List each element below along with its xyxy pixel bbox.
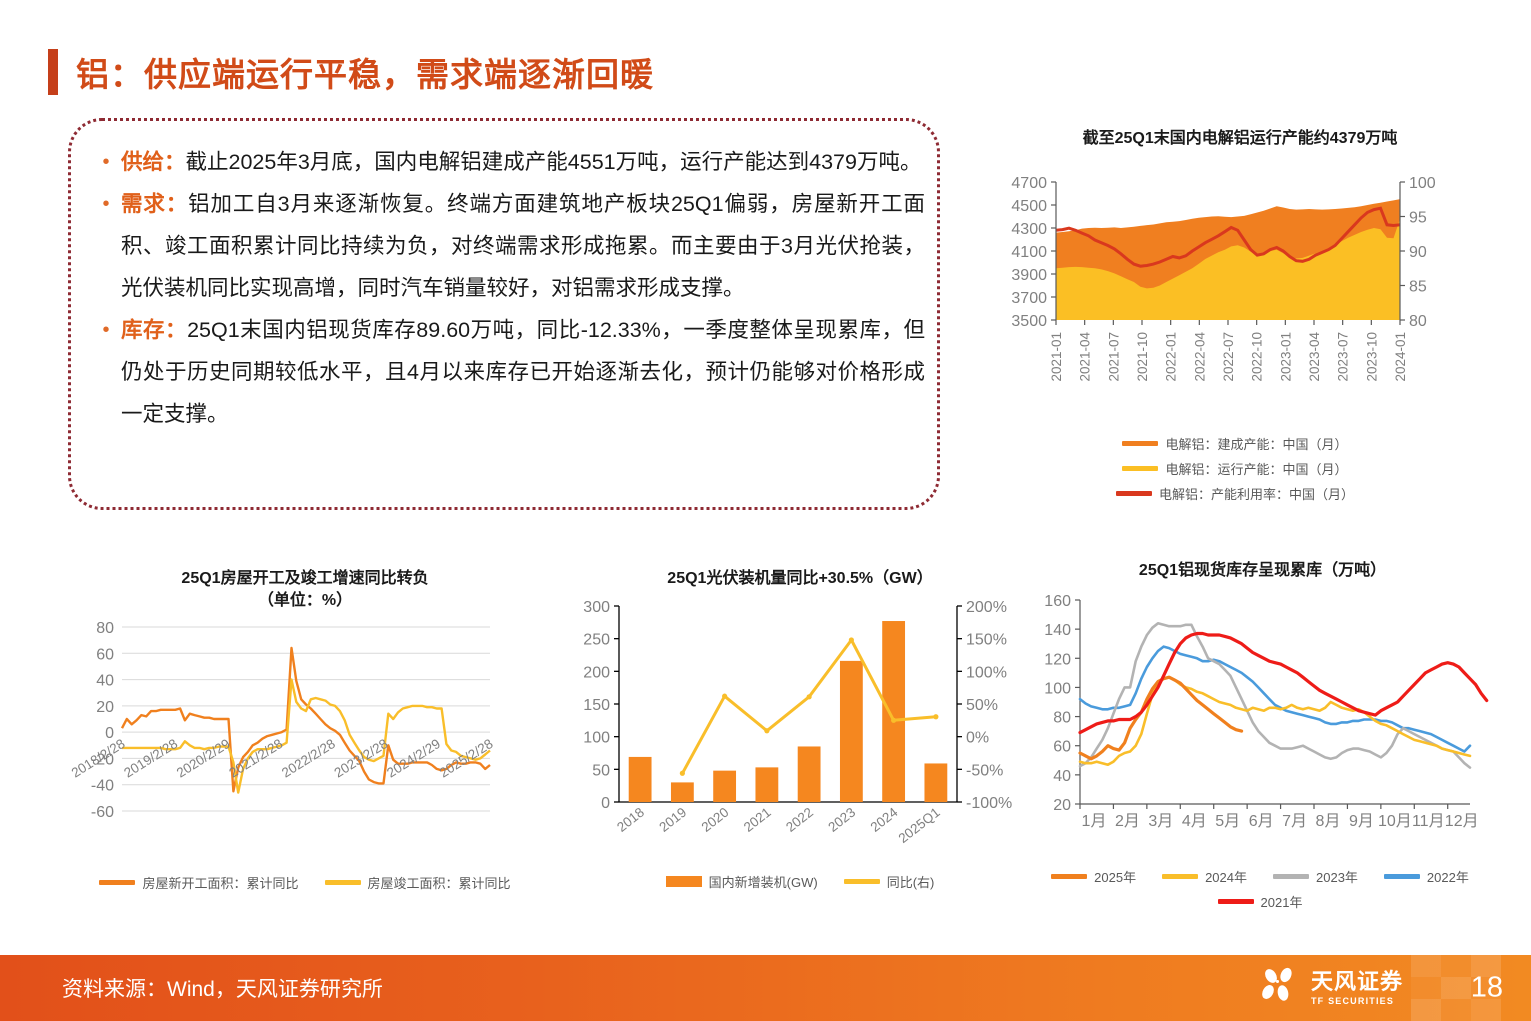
svg-text:11月: 11月 [1412, 813, 1445, 830]
chart-aluminum-spot-inventory: 25Q1铝现货库存呈现累库（万吨） 204060801001201401601月… [1030, 560, 1495, 900]
legend-label: 2022年 [1427, 867, 1469, 886]
svg-text:20: 20 [1053, 797, 1071, 814]
svg-text:12月: 12月 [1445, 813, 1479, 830]
svg-text:60: 60 [1053, 738, 1071, 755]
svg-text:200%: 200% [966, 599, 1007, 616]
chart-housing-starts-completions: 25Q1房屋开工及竣工增速同比转负 （单位：%） 806040200-20-40… [70, 568, 540, 898]
bullet-lead: 供给： [121, 150, 186, 174]
bullet-lead: 库存： [121, 318, 187, 342]
svg-text:2024-01: 2024-01 [1393, 332, 1408, 382]
svg-text:3700: 3700 [1011, 290, 1047, 307]
chart-inventory-plot: 204060801001201401601月2月3月4月5月6月7月8月9月10… [1030, 582, 1495, 862]
svg-text:-100%: -100% [966, 795, 1012, 812]
bullet-text: 需求：铝加工自3月来逐渐恢复。终端方面建筑地产板块25Q1偏弱，房屋新开工面积、… [121, 183, 925, 309]
svg-text:80: 80 [1053, 709, 1071, 726]
bar [671, 782, 694, 802]
svg-text:2022: 2022 [783, 804, 816, 834]
svg-text:2024: 2024 [868, 804, 901, 835]
svg-text:2022-04: 2022-04 [1192, 331, 1207, 381]
chart-housing-legend: 房屋新开工面积：累计同比房屋竣工面积：累计同比 [70, 873, 540, 892]
svg-text:5月: 5月 [1215, 813, 1240, 830]
bullet-dot-icon: • [91, 141, 121, 183]
svg-text:9月: 9月 [1349, 813, 1374, 830]
bullet-lead: 需求： [121, 192, 188, 216]
legend-item: 同比(右) [844, 872, 935, 891]
svg-text:2021-01: 2021-01 [1049, 332, 1064, 382]
svg-text:2018/2/28: 2018/2/28 [70, 736, 128, 781]
legend-label: 房屋新开工面积：累计同比 [142, 873, 298, 892]
legend-label: 2025年 [1094, 867, 1136, 886]
svg-text:10月: 10月 [1378, 813, 1412, 830]
svg-text:3900: 3900 [1011, 267, 1047, 284]
bar [924, 763, 947, 802]
svg-text:2月: 2月 [1115, 813, 1140, 830]
svg-text:0: 0 [601, 795, 610, 812]
chart-solar-legend: 国内新增装机(GW)同比(右) [565, 872, 1035, 891]
legend-label: 同比(右) [887, 872, 935, 891]
svg-text:2018: 2018 [614, 804, 647, 834]
svg-text:2023-04: 2023-04 [1307, 331, 1322, 381]
svg-text:100%: 100% [966, 664, 1007, 681]
legend-swatch [844, 879, 880, 884]
svg-text:2021-04: 2021-04 [1078, 331, 1093, 381]
bar [713, 770, 736, 801]
bullet-item: •库存：25Q1末国内铝现货库存89.60万吨，同比-12.33%，一季度整体呈… [91, 309, 925, 435]
chart-capacity-plot: 3500370039004100430045004700808590951002… [1000, 160, 1480, 425]
svg-text:4月: 4月 [1182, 813, 1207, 830]
legend-swatch [1116, 491, 1152, 496]
brand-name-en: TF SECURITIES [1311, 997, 1403, 1006]
page-title: 铝：供应端运行平稳，需求端逐渐回暖 [76, 48, 654, 96]
chart-solar-title: 25Q1光伏装机量同比+30.5%（GW） [565, 568, 1035, 590]
bullet-item: •需求：铝加工自3月来逐渐恢复。终端方面建筑地产板块25Q1偏弱，房屋新开工面积… [91, 183, 925, 309]
footer-source-text: 资料来源：Wind，天风证券研究所 [62, 973, 383, 1003]
svg-text:100: 100 [1044, 680, 1071, 697]
legend-label: 2021年 [1261, 892, 1303, 911]
svg-text:150: 150 [583, 697, 610, 714]
svg-text:4100: 4100 [1011, 244, 1047, 261]
svg-text:160: 160 [1044, 593, 1071, 610]
svg-text:2021-10: 2021-10 [1135, 332, 1150, 382]
tf-securities-flower-icon [1259, 967, 1303, 1009]
bullet-item: •供给：截止2025年3月底，国内电解铝建成产能4551万吨，运行产能达到437… [91, 141, 925, 183]
svg-text:2021: 2021 [741, 804, 774, 834]
svg-text:60: 60 [96, 646, 114, 663]
legend-label: 电解铝：产能利用率：中国（月） [1159, 484, 1354, 503]
svg-text:3500: 3500 [1011, 313, 1047, 330]
svg-text:-50%: -50% [966, 762, 1003, 779]
legend-label: 2024年 [1205, 867, 1247, 886]
svg-text:2020: 2020 [699, 804, 732, 834]
chart-capacity-title: 截至25Q1末国内电解铝运行产能约4379万吨 [1000, 128, 1480, 150]
svg-text:100: 100 [1409, 175, 1436, 192]
chart-inventory-title: 25Q1铝现货库存呈现累库（万吨） [1030, 560, 1495, 582]
svg-text:80: 80 [96, 620, 114, 637]
legend-swatch [325, 880, 361, 885]
svg-text:4300: 4300 [1011, 221, 1047, 238]
svg-text:100: 100 [583, 729, 610, 746]
page-title-group: 铝：供应端运行平稳，需求端逐渐回暖 [48, 48, 654, 96]
summary-callout-box: •供给：截止2025年3月底，国内电解铝建成产能4551万吨，运行产能达到437… [68, 118, 940, 510]
svg-text:-40: -40 [91, 778, 114, 795]
legend-item: 2025年 [1051, 867, 1136, 886]
svg-text:90: 90 [1409, 244, 1427, 261]
svg-text:2023-07: 2023-07 [1336, 332, 1351, 382]
svg-text:2022-07: 2022-07 [1221, 332, 1236, 382]
legend-swatch [1162, 874, 1198, 879]
legend-label: 电解铝：运行产能：中国（月） [1165, 459, 1347, 478]
svg-text:3月: 3月 [1148, 813, 1173, 830]
svg-text:1月: 1月 [1082, 813, 1107, 830]
company-logo: 天风证券 TF SECURITIES [1259, 967, 1403, 1009]
chart-electrolytic-aluminum-capacity: 截至25Q1末国内电解铝运行产能约4379万吨 3500370039004100… [1000, 128, 1480, 488]
svg-text:4500: 4500 [1011, 198, 1047, 215]
bar [629, 757, 652, 802]
legend-item: 2022年 [1384, 867, 1469, 886]
title-accent-bar [48, 49, 58, 95]
svg-text:40: 40 [96, 673, 114, 690]
chart-solar-plot: 050100150200250300-100%-50%0%50%100%150%… [565, 590, 1035, 865]
legend-swatch [1273, 874, 1309, 879]
svg-text:40: 40 [1053, 767, 1071, 784]
legend-item: 2021年 [1218, 892, 1303, 911]
svg-text:80: 80 [1409, 313, 1427, 330]
legend-label: 房屋竣工面积：累计同比 [368, 873, 511, 892]
svg-text:6月: 6月 [1249, 813, 1274, 830]
legend-label: 国内新增装机(GW) [709, 872, 818, 891]
brand-name-cn: 天风证券 [1311, 971, 1403, 993]
svg-text:50%: 50% [966, 697, 998, 714]
chart-solar-installations: 25Q1光伏装机量同比+30.5%（GW） 050100150200250300… [565, 568, 1035, 898]
svg-text:150%: 150% [966, 631, 1007, 648]
legend-item: 电解铝：建成产能：中国（月） [1122, 434, 1347, 453]
svg-text:200: 200 [583, 664, 610, 681]
svg-text:2019: 2019 [656, 804, 689, 834]
bullet-text: 供给：截止2025年3月底，国内电解铝建成产能4551万吨，运行产能达到4379… [121, 141, 921, 183]
legend-swatch [99, 880, 135, 885]
bar [798, 746, 821, 802]
svg-text:0%: 0% [966, 729, 989, 746]
bullet-dot-icon: • [91, 183, 121, 225]
svg-text:300: 300 [583, 599, 610, 616]
chart-capacity-legend: 电解铝：建成产能：中国（月）电解铝：运行产能：中国（月）电解铝：产能利用率：中国… [1000, 434, 1470, 503]
svg-text:2023: 2023 [825, 804, 858, 834]
bullet-list: •供给：截止2025年3月底，国内电解铝建成产能4551万吨，运行产能达到437… [91, 141, 925, 435]
legend-item: 房屋新开工面积：累计同比 [99, 873, 298, 892]
legend-item: 国内新增装机(GW) [666, 872, 818, 891]
svg-text:120: 120 [1044, 651, 1071, 668]
legend-item: 2024年 [1162, 867, 1247, 886]
svg-text:20: 20 [96, 699, 114, 716]
svg-text:250: 250 [583, 631, 610, 648]
bullet-dot-icon: • [91, 309, 121, 351]
svg-text:2023-01: 2023-01 [1278, 332, 1293, 382]
chart-housing-plot: 806040200-20-40-602018/2/282019/2/282020… [70, 611, 540, 866]
legend-swatch [1122, 441, 1158, 446]
chart-housing-subtitle: （单位：%） [70, 590, 540, 612]
svg-text:2025Q1: 2025Q1 [896, 804, 943, 845]
legend-item: 电解铝：产能利用率：中国（月） [1116, 484, 1354, 503]
chart-housing-title: 25Q1房屋开工及竣工增速同比转负 [70, 568, 540, 590]
svg-text:8月: 8月 [1316, 813, 1341, 830]
svg-text:-60: -60 [91, 804, 114, 821]
svg-text:95: 95 [1409, 209, 1427, 226]
page-number: 18 [1471, 972, 1503, 1005]
bar [882, 621, 905, 802]
legend-swatch [1218, 899, 1254, 904]
svg-text:2022-01: 2022-01 [1164, 332, 1179, 382]
svg-text:2022-10: 2022-10 [1250, 332, 1265, 382]
bullet-text: 库存：25Q1末国内铝现货库存89.60万吨，同比-12.33%，一季度整体呈现… [121, 309, 925, 435]
legend-label: 电解铝：建成产能：中国（月） [1165, 434, 1347, 453]
chart-inventory-legend: 2025年2024年2023年2022年2021年 [1030, 867, 1490, 911]
legend-item: 2023年 [1273, 867, 1358, 886]
svg-text:7月: 7月 [1282, 813, 1307, 830]
svg-text:2021-07: 2021-07 [1106, 332, 1121, 382]
svg-text:140: 140 [1044, 622, 1071, 639]
legend-item: 电解铝：运行产能：中国（月） [1122, 459, 1347, 478]
legend-label: 2023年 [1316, 867, 1358, 886]
svg-text:4700: 4700 [1011, 175, 1047, 192]
bar [755, 767, 778, 802]
legend-swatch [1122, 466, 1158, 471]
svg-text:50: 50 [592, 762, 610, 779]
legend-swatch [1384, 874, 1420, 879]
slide-footer: 资料来源：Wind，天风证券研究所 天风证券 TF SECURITIES 18 [0, 955, 1531, 1021]
legend-item: 房屋竣工面积：累计同比 [325, 873, 511, 892]
svg-text:2023-10: 2023-10 [1364, 332, 1379, 382]
bar [840, 660, 863, 801]
legend-swatch [666, 876, 702, 887]
legend-swatch [1051, 874, 1087, 879]
svg-text:85: 85 [1409, 278, 1427, 295]
